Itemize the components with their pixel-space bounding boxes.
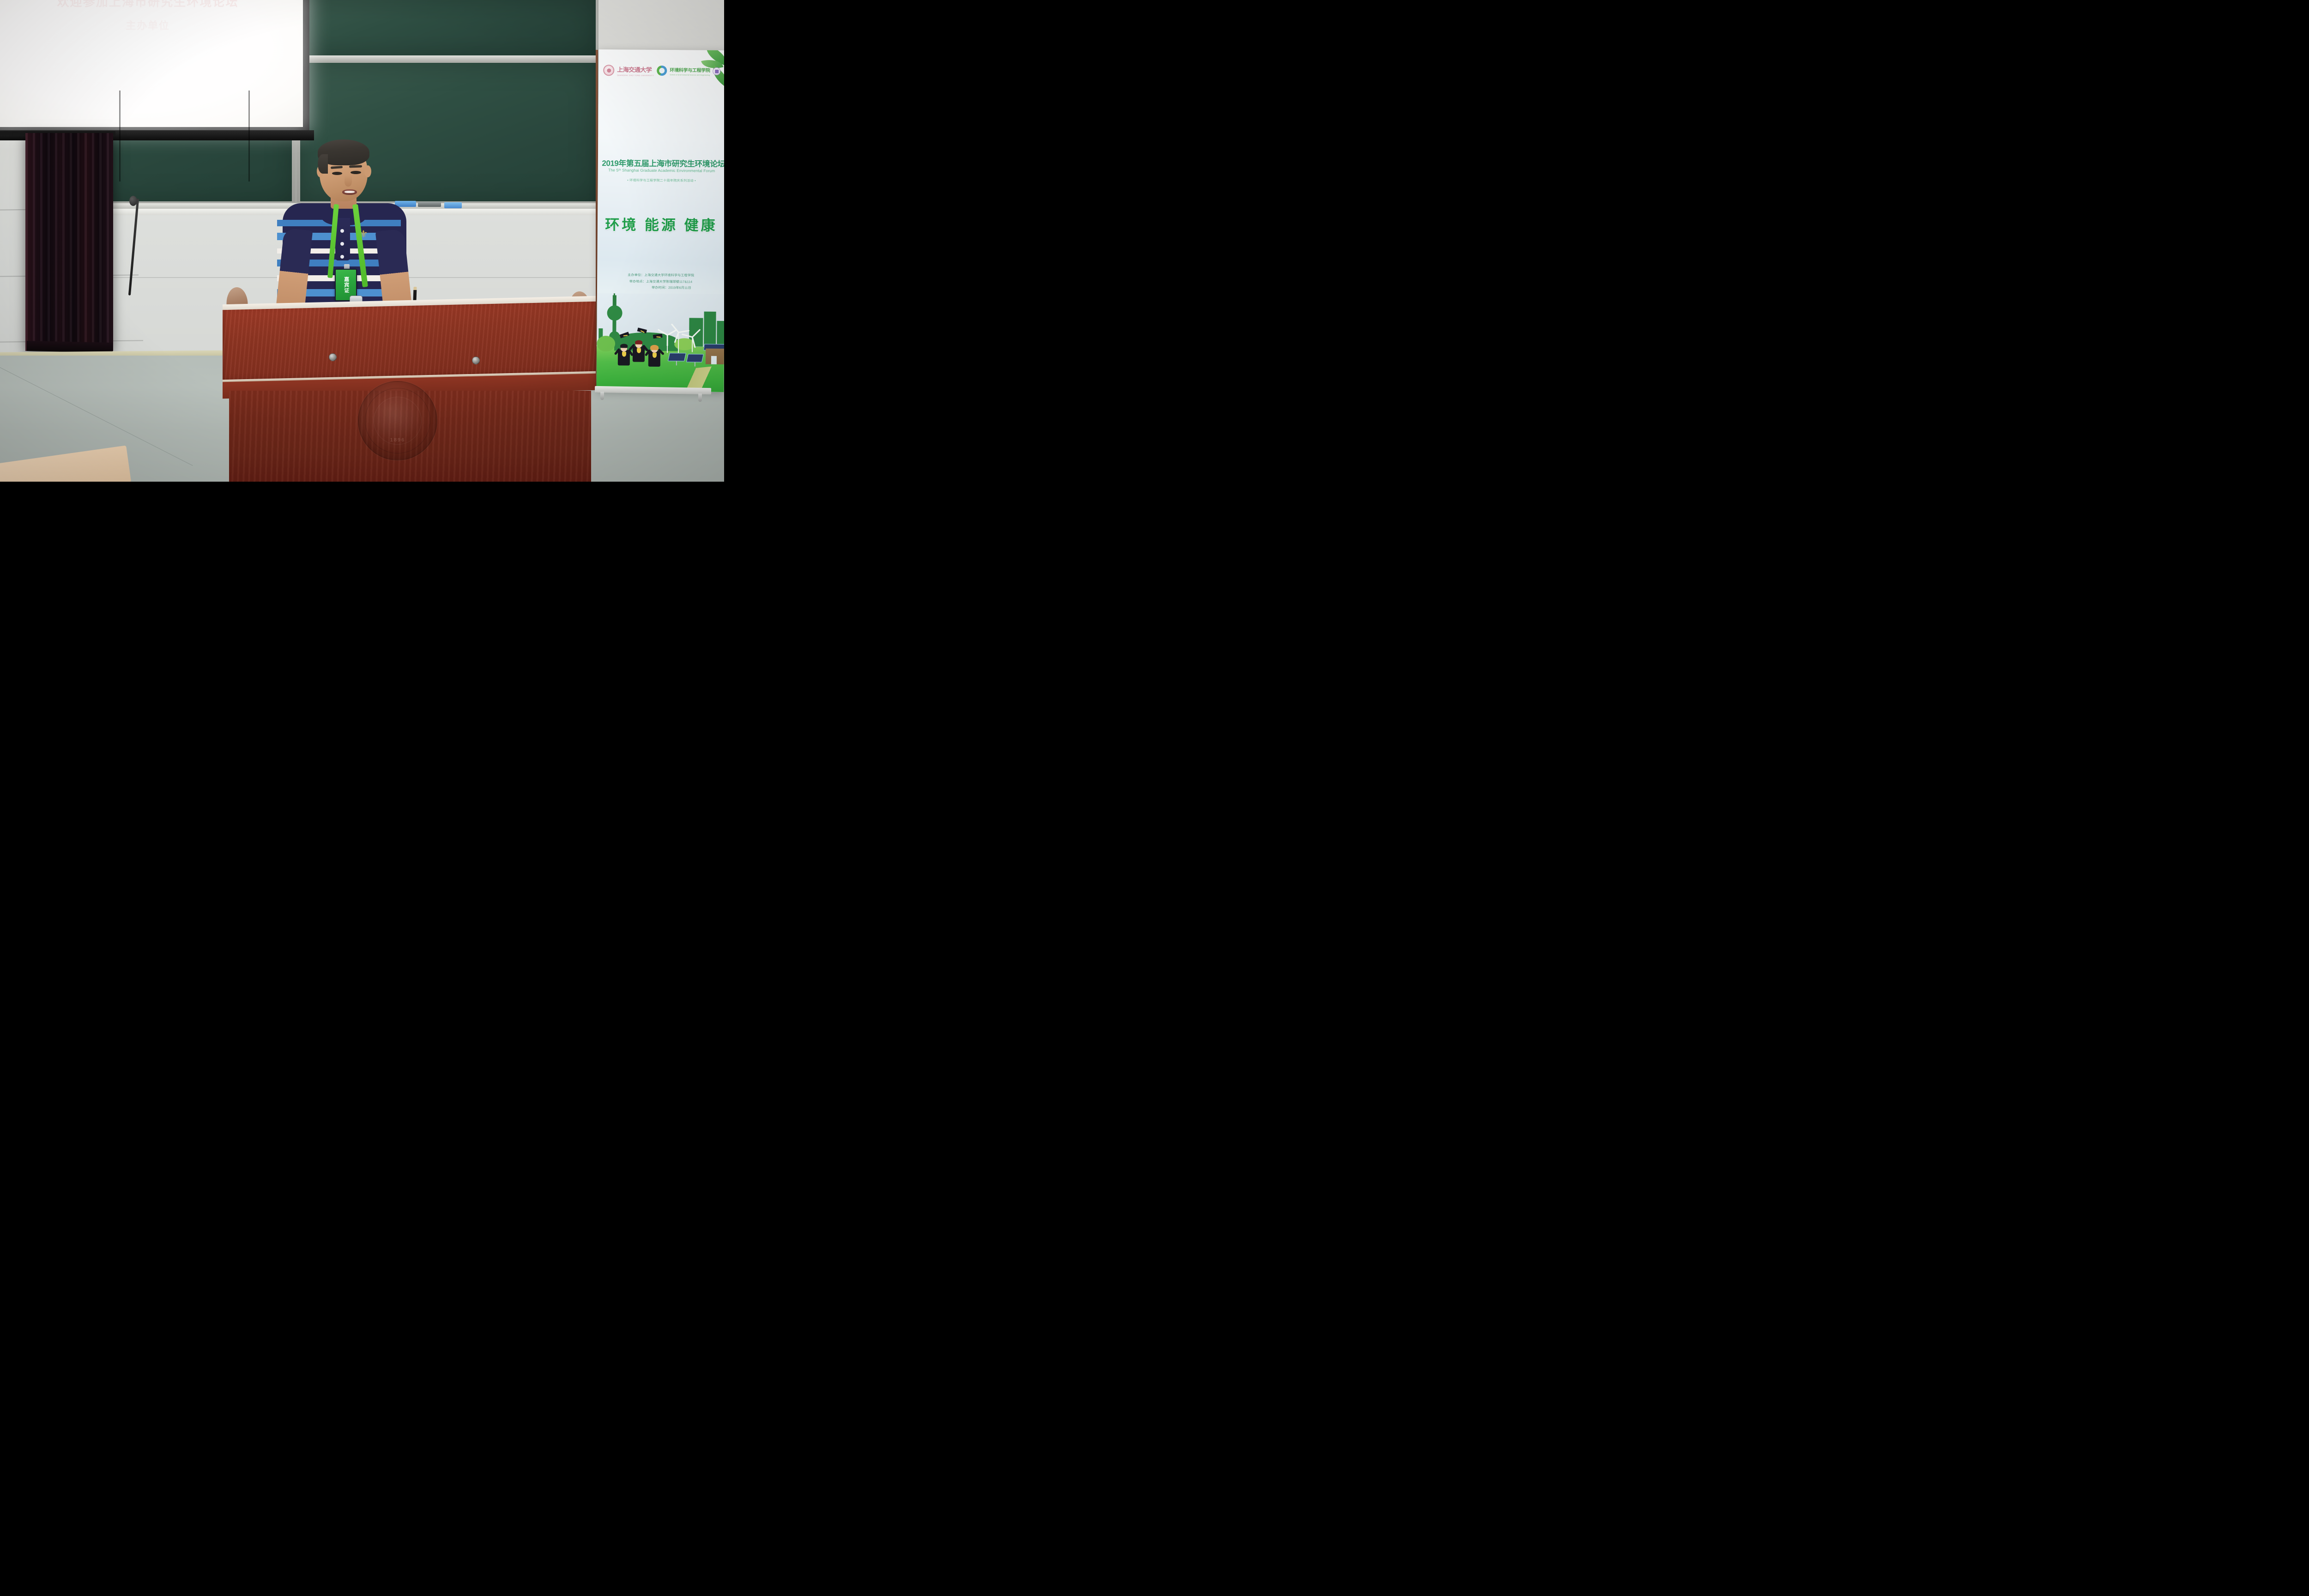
banner-title-cn: 2019年第五届上海市研究生环境论坛	[601, 157, 724, 169]
banner-logo-row: 上海交通大学 SHANGHAI JIAO TONG UNIVERSITY 环境科…	[603, 62, 724, 79]
time-label: 举办时间：	[652, 286, 668, 290]
podium-lock-icon[interactable]	[472, 357, 480, 364]
eco-house-door	[711, 356, 717, 364]
sjtu-logo-label: 上海交通大学	[617, 66, 652, 73]
stage-curtain[interactable]	[25, 133, 113, 351]
sese-logo-label: 环境科学与工程学院	[670, 68, 710, 73]
shirt-button	[340, 229, 344, 233]
podium-door-seam	[119, 91, 121, 181]
projection-screen: 欢迎参加上海市研究生环境论坛 主办单位	[0, 0, 303, 127]
presenter-eyebrow	[349, 165, 362, 168]
banner-slogan: 环境 能源 健康	[598, 213, 724, 235]
turbine-blade	[667, 335, 668, 346]
podium-front-face	[223, 302, 597, 384]
time-value: 2019年6月11日	[668, 286, 691, 290]
screen-line-2: 主办单位	[0, 18, 303, 32]
third-partner-logo-icon	[713, 67, 721, 75]
badge-label: 嘉宾证	[343, 277, 349, 293]
banner-stand-foot	[698, 393, 702, 402]
organizer-value: 上海交通大学环境科学与工程学院	[644, 274, 694, 278]
university-seal-emblem: 1896	[358, 381, 437, 460]
building-icon	[717, 321, 724, 347]
turbine-blade	[678, 330, 689, 333]
chalkboard-rail-horizontal	[299, 55, 597, 62]
graduate-figure	[648, 345, 660, 367]
banner-tagline: • 环境科学与工程学院二十周年院庆系列活动 •	[598, 178, 724, 183]
pen-icon	[413, 287, 417, 302]
location-label: 举办地点：	[629, 280, 646, 283]
banner-stand-foot	[600, 392, 604, 400]
presenter-hair-side	[318, 154, 328, 174]
sjtu-seal-icon	[603, 65, 614, 76]
bush-icon	[597, 336, 615, 351]
solar-panel-icon	[668, 353, 686, 361]
presenter-eye	[332, 172, 342, 175]
green-campus-illustration	[596, 293, 724, 392]
blue-marker-icon	[444, 202, 462, 208]
projection-screen-frame: 欢迎参加上海市研究生环境论坛 主办单位	[0, 0, 309, 136]
screen-line-1: 欢迎参加上海市研究生环境论坛	[0, 0, 303, 10]
graduate-hair	[650, 345, 659, 350]
presenter-nose	[345, 175, 352, 187]
graduate-hair	[635, 340, 642, 345]
banner-title-en: The 5ᵗʰ Shanghai Graduate Academic Envir…	[598, 168, 724, 173]
organizer-label: 主办单位：	[628, 273, 644, 277]
banner-time-line: 举办时间：2019年6月11日	[597, 284, 724, 292]
graduate-figure	[633, 340, 645, 362]
sese-logo-icon	[657, 66, 667, 76]
polo-placket	[335, 218, 350, 260]
graduate-collar	[637, 348, 641, 353]
presenter-teeth	[345, 191, 355, 193]
solar-panel-leg	[695, 362, 695, 367]
location-value: 上海交通大学陈瑞球楼117&114	[646, 280, 692, 284]
shirt-button	[340, 242, 344, 246]
solar-panel-leg	[676, 361, 677, 365]
solar-panel-icon	[686, 354, 704, 362]
pearl-tower-sphere	[607, 305, 622, 320]
podium-door-seam	[248, 91, 250, 181]
presenter: ⚜ 嘉宾证	[277, 139, 411, 323]
emblem-year: 1896	[359, 437, 436, 443]
graduate-collar	[622, 351, 626, 357]
building-icon	[704, 312, 716, 347]
graduate-hair	[620, 344, 628, 348]
presenter-ear	[364, 165, 371, 177]
shirt-button	[340, 255, 344, 259]
lecture-hall-scene: 欢迎参加上海市研究生环境论坛 主办单位 ⚜	[0, 0, 724, 482]
presenter-eye	[351, 171, 361, 174]
eraser-icon	[418, 202, 441, 207]
graduate-figure	[618, 343, 630, 365]
podium-lock-icon[interactable]	[329, 353, 337, 361]
sese-logo-label-en: School of Environmental Science and Engi…	[670, 74, 710, 76]
banner-info-block: 主办单位：上海交通大学环境科学与工程学院 举办地点：上海交通大学陈瑞球楼117&…	[597, 272, 724, 292]
sjtu-logo-label-en: SHANGHAI JIAO TONG UNIVERSITY	[617, 74, 654, 77]
graduate-collar	[653, 353, 657, 358]
chalkboard-panel-top-right	[300, 0, 596, 56]
roll-up-banner: 上海交通大学 SHANGHAI JIAO TONG UNIVERSITY 环境科…	[596, 49, 724, 392]
